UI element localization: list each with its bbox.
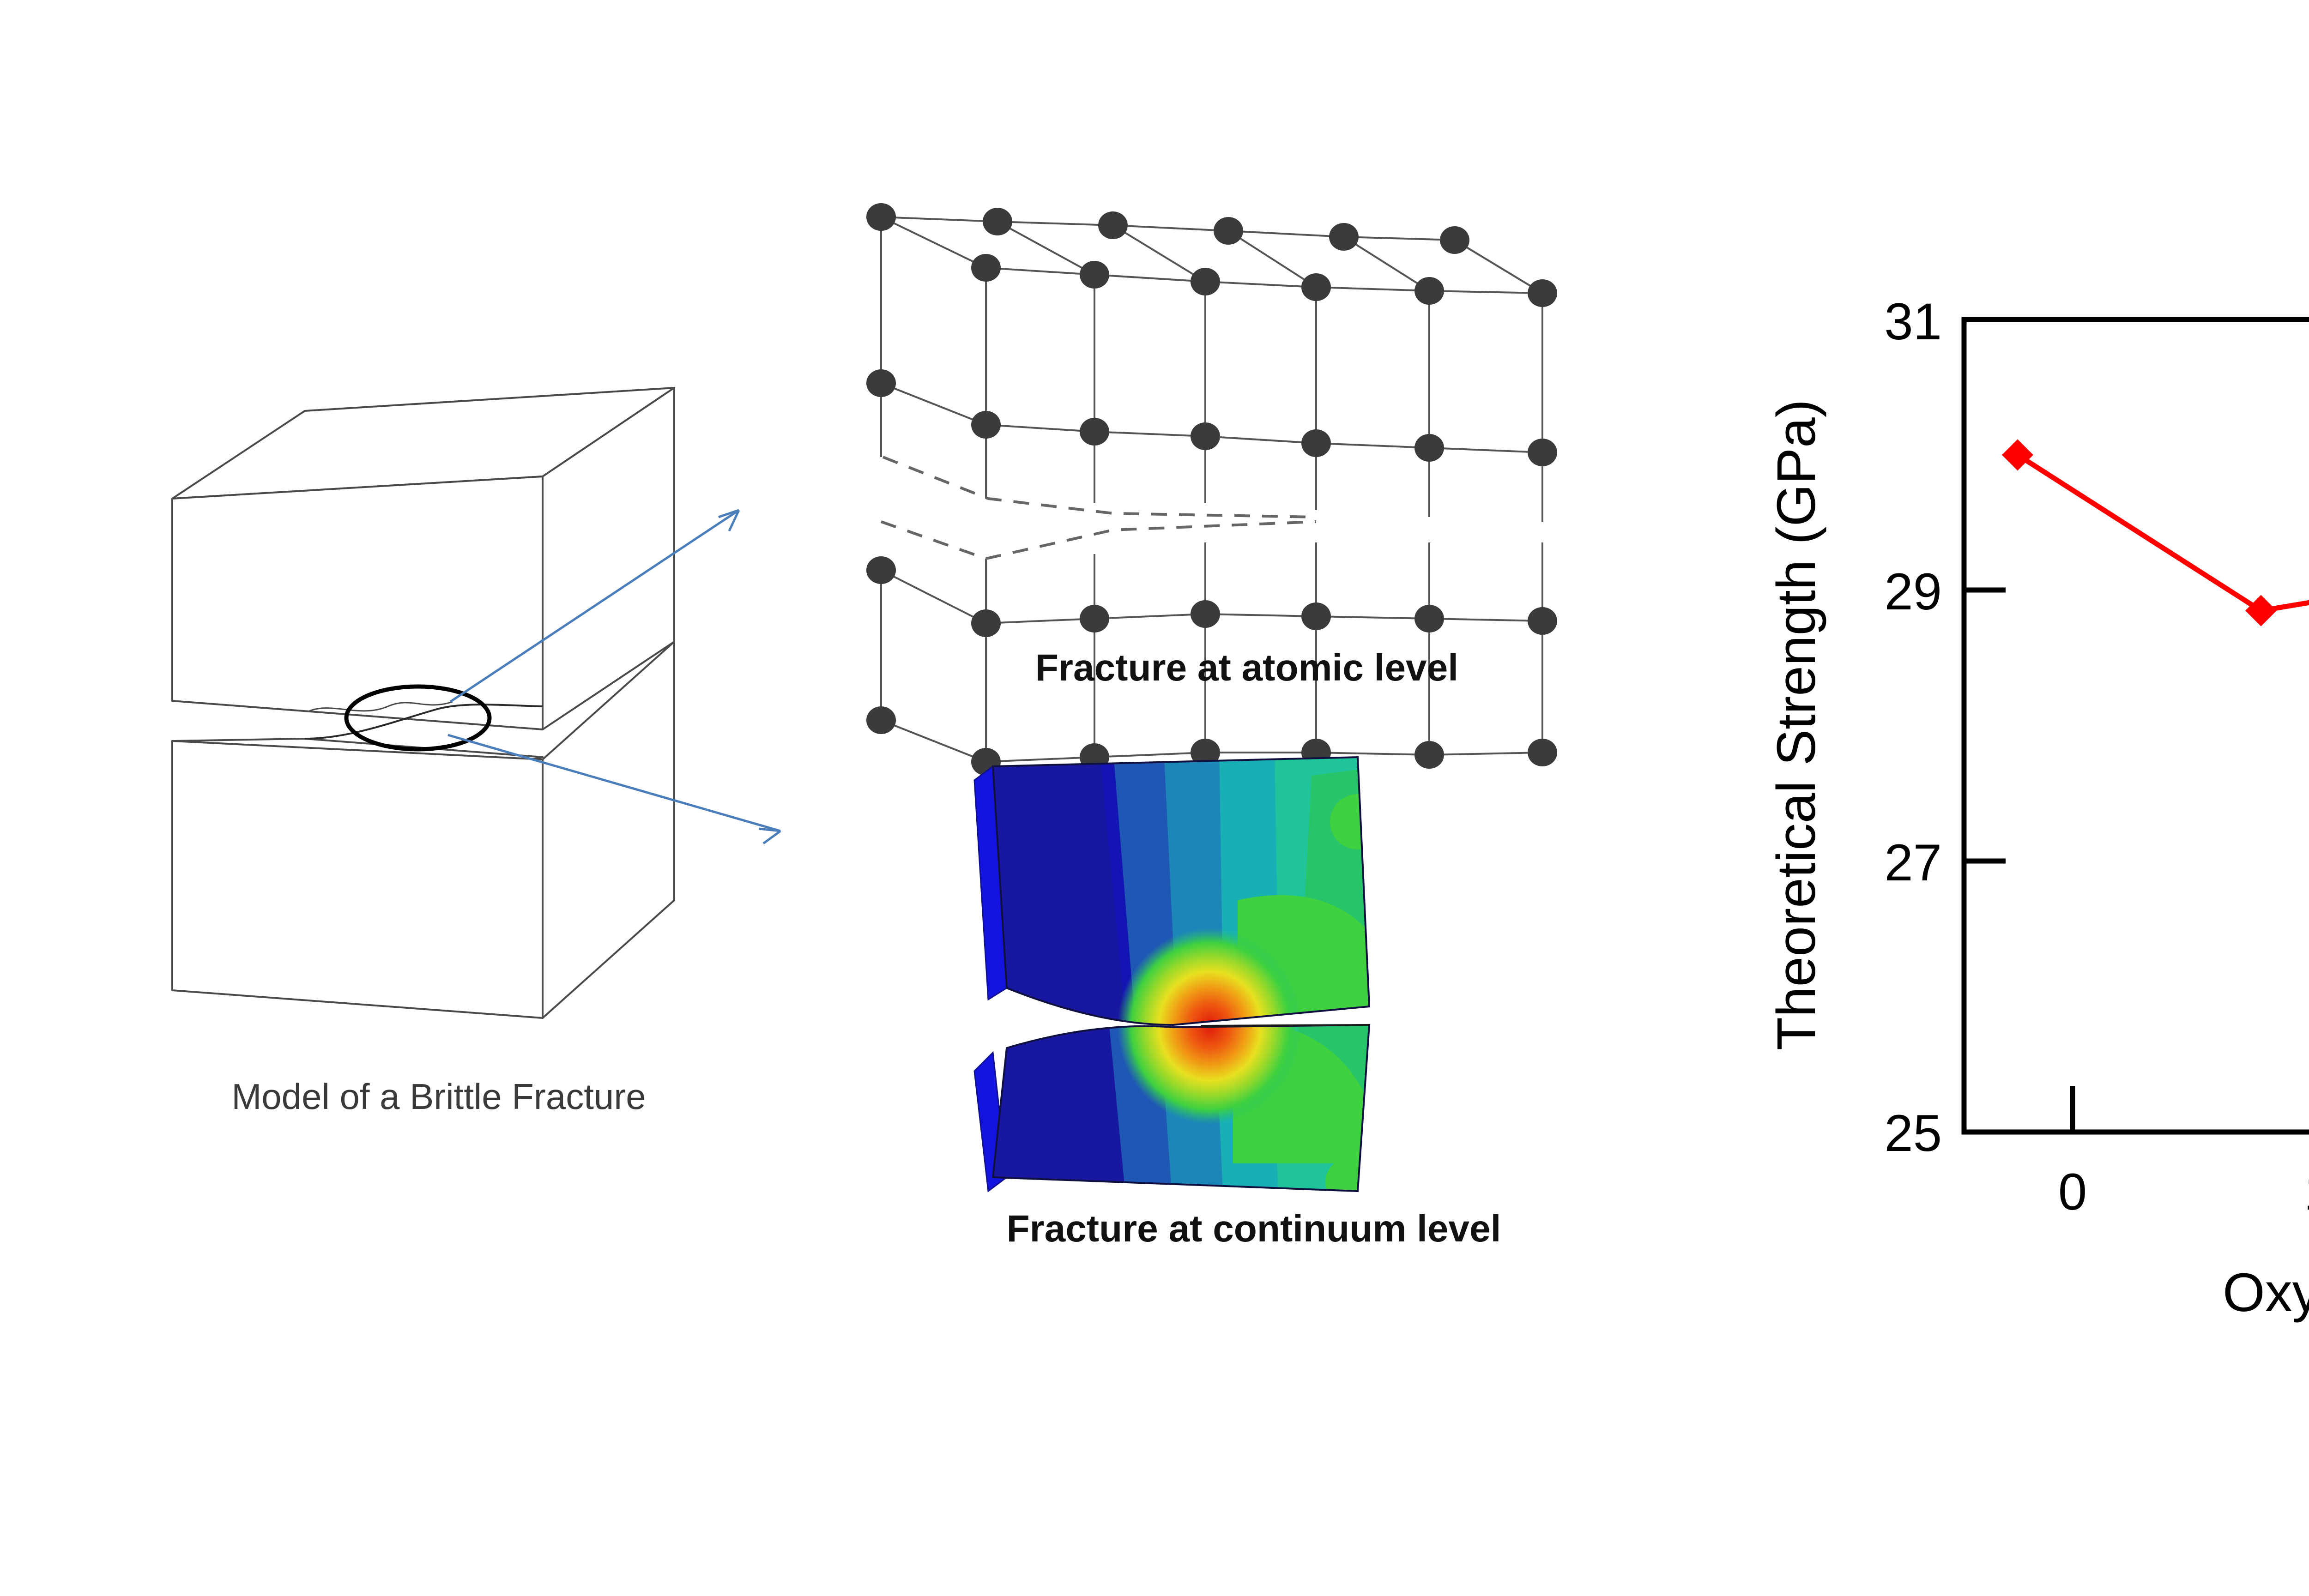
x-tick-label-0: 0 (2058, 1163, 2087, 1221)
x-axis-title: Oxygen Atoms per GB (2223, 1262, 2309, 1323)
y-tick-label-31: 31 (1884, 293, 1942, 350)
lattice-atoms (866, 203, 1557, 776)
figure-canvas: Model of a Brittle Fracture (0, 0, 2309, 1596)
brittle-fracture-diagram (0, 0, 877, 1085)
y-tick-label-29: 29 (1884, 563, 1942, 620)
data-point-marker-1 (2245, 595, 2277, 626)
x-tick-label-1: 1 (2304, 1163, 2309, 1221)
y-tick-marks (1964, 590, 2006, 861)
brittle-block-lower-front (172, 741, 543, 1018)
caption-atomic-fracture: Fracture at atomic level (854, 646, 1639, 690)
x-tick-labels: 0 1 2 3 4 (2058, 1163, 2309, 1221)
data-point-marker-0 (2002, 439, 2033, 470)
panel-brittle-fracture-model: Model of a Brittle Fracture (0, 0, 877, 1293)
x-tick-marks (2073, 1086, 2309, 1132)
fem-contour-plot (914, 748, 1469, 1210)
data-series-line (2018, 455, 2309, 1051)
data-series-markers (2002, 439, 2309, 1066)
y-tick-label-27: 27 (1884, 834, 1942, 891)
crack-dashed-surfaces (881, 457, 1316, 559)
theoretical-strength-line-chart: 31 29 27 25 0 1 2 3 4 Oxygen Atoms per G… (1709, 222, 2309, 1422)
y-tick-label-25: 25 (1884, 1104, 1942, 1162)
panel-continuum-fracture (914, 748, 1469, 1210)
caption-continuum-fracture: Fracture at continuum level (827, 1207, 1681, 1251)
panel-strength-chart: 31 29 27 25 0 1 2 3 4 Oxygen Atoms per G… (1709, 222, 2309, 1422)
y-axis-title: Theoretical Strength (GPa) (1766, 399, 1827, 1050)
crack-plane-line (1201, 1025, 1369, 1026)
brittle-block-upper-front (172, 476, 543, 729)
caption-brittle-fracture-model: Model of a Brittle Fracture (115, 1076, 762, 1118)
y-tick-labels: 31 29 27 25 (1884, 293, 1942, 1162)
